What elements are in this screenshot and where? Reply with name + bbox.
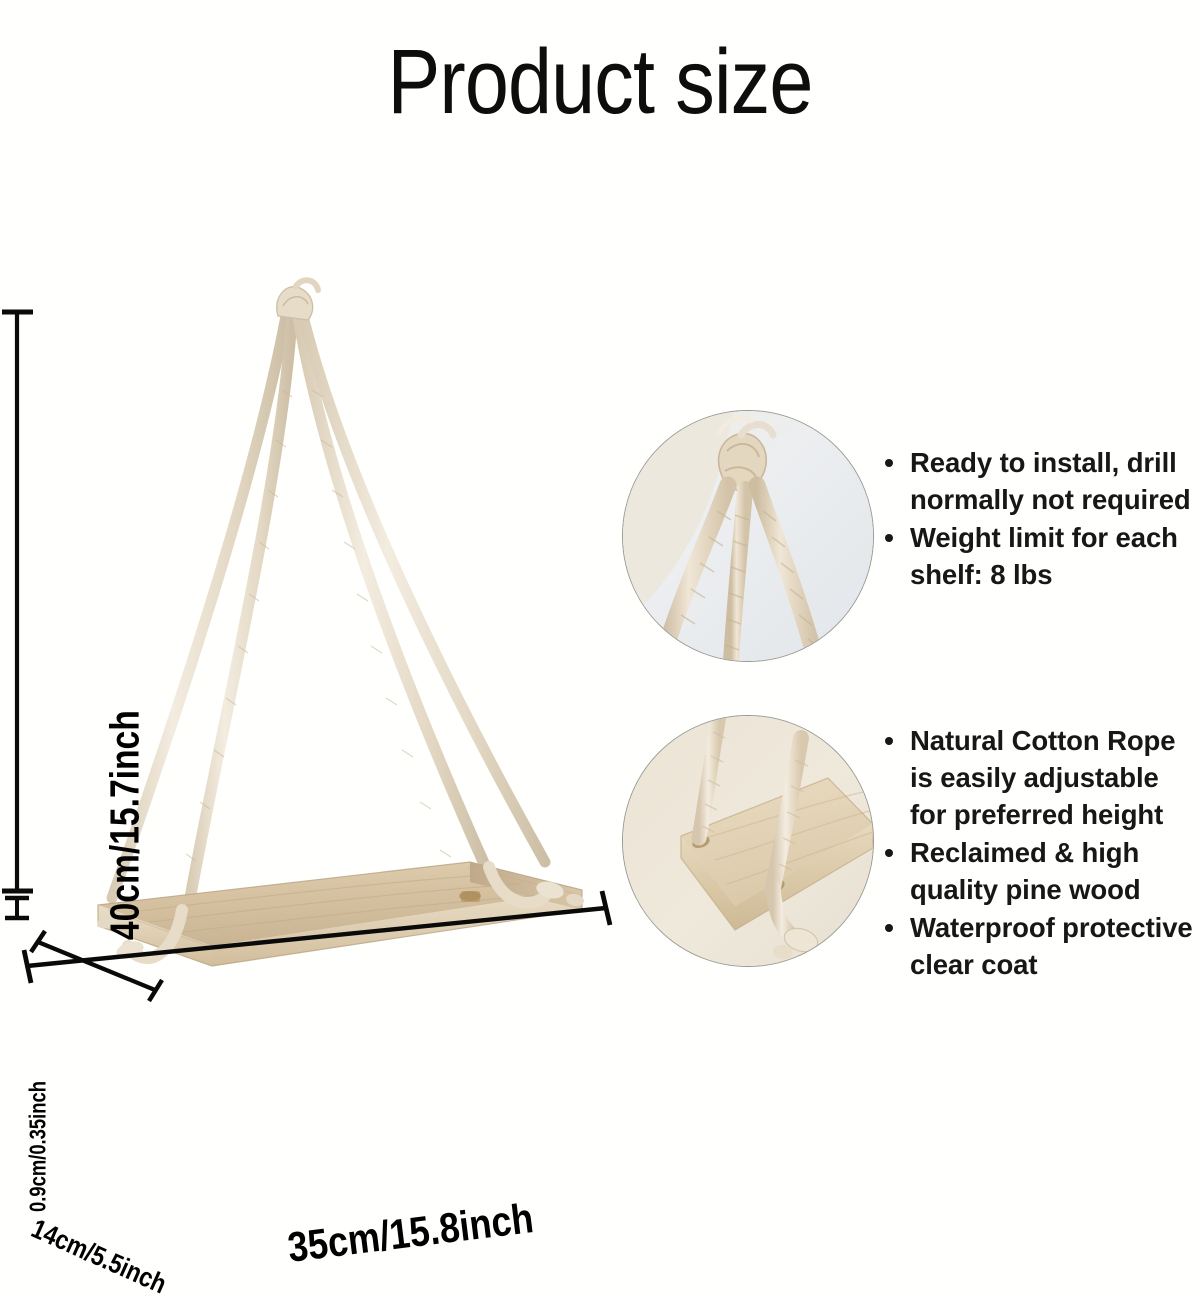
feature-item: Ready to install, drill normally not req…: [880, 444, 1198, 518]
bullet-icon: [885, 459, 893, 467]
dimension-line-thickness: [5, 898, 29, 918]
feature-item: Weight limit for each shelf: 8 lbs: [880, 519, 1198, 593]
shelf-rope-closeup-image: [623, 716, 873, 966]
dimension-label-thickness: 0.9cm/0.35inch: [25, 1075, 52, 1219]
feature-text: Waterproof protective clear coat: [910, 912, 1193, 980]
feature-item: Waterproof protective clear coat: [880, 909, 1200, 983]
rope-knot-closeup-image: [623, 411, 873, 661]
dimension-label-depth: 14cm/5.5inch: [27, 1213, 171, 1300]
dimension-label-height: 40cm/15.7inch: [102, 727, 149, 940]
bullet-icon: [885, 534, 893, 542]
dimension-label-width: 35cm/15.8inch: [285, 1194, 536, 1272]
bullet-icon: [885, 849, 893, 857]
feature-text: Ready to install, drill normally not req…: [910, 447, 1191, 515]
rope-strands: [112, 316, 545, 910]
feature-list-material: Natural Cotton Rope is easily adjustable…: [880, 722, 1200, 984]
feature-text: Reclaimed & high quality pine wood: [910, 837, 1141, 905]
feature-item: Reclaimed & high quality pine wood: [880, 834, 1200, 908]
product-illustration: 40cm/15.7inch 0.9cm/0.35inch 14cm/5.5inc…: [0, 250, 640, 1050]
feature-item: Natural Cotton Rope is easily adjustable…: [880, 722, 1200, 833]
bullet-icon: [885, 737, 893, 745]
feature-text: Natural Cotton Rope is easily adjustable…: [910, 725, 1175, 830]
page-title: Product size: [84, 36, 1116, 128]
rope-shelf-drawing: [0, 250, 640, 1050]
inset-photo-rope-knot: [622, 410, 874, 662]
bullet-icon: [885, 924, 893, 932]
rope-apex-knot: [277, 280, 318, 320]
feature-list-install: Ready to install, drill normally not req…: [880, 444, 1198, 594]
infographic-canvas: Product size: [0, 0, 1200, 1200]
feature-text: Weight limit for each shelf: 8 lbs: [910, 522, 1178, 590]
dimension-line-height: [2, 312, 33, 891]
inset-photo-shelf-rope: [622, 715, 874, 967]
